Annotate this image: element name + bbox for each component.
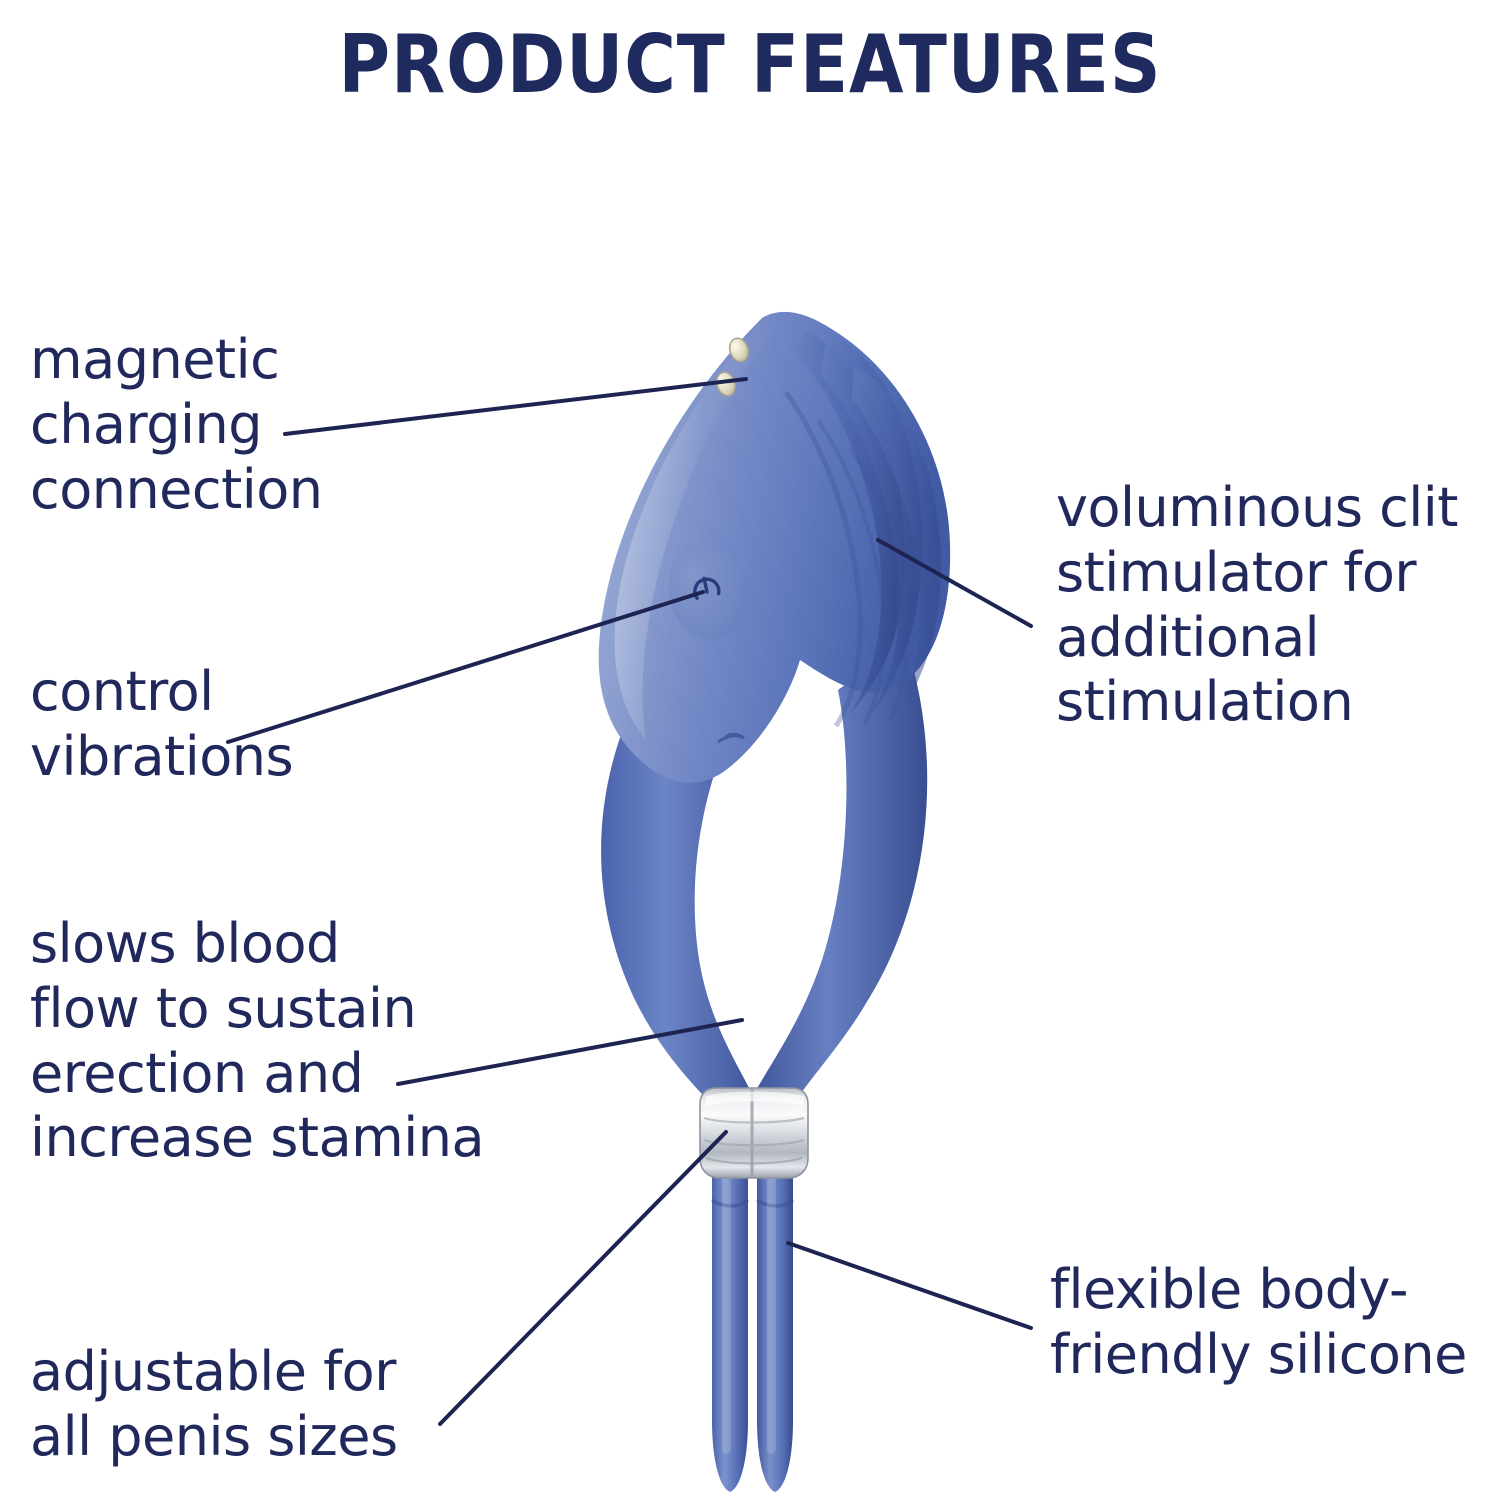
clit-stimulator-head [599,312,950,783]
leader-flexible-silicone [788,1243,1031,1328]
callout-voluminous-clit-stimulator: voluminous clit stimulator for additiona… [1056,476,1486,735]
callout-adjustable-for-all-penis-sizes: adjustable for all penis sizes [30,1340,500,1470]
metal-clasp-ring[interactable] [700,1088,808,1178]
callout-flexible-body-friendly-silicone: flexible body- friendly silicone [1050,1258,1500,1388]
product-feature-diagram: PRODUCT FEATURES [0,0,1500,1500]
callout-slows-blood-flow: slows blood flow to sustain erection and… [30,912,510,1171]
callout-control-vibrations: control vibrations [30,660,430,790]
callout-magnetic-charging-connection: magnetic charging connection [30,328,430,522]
